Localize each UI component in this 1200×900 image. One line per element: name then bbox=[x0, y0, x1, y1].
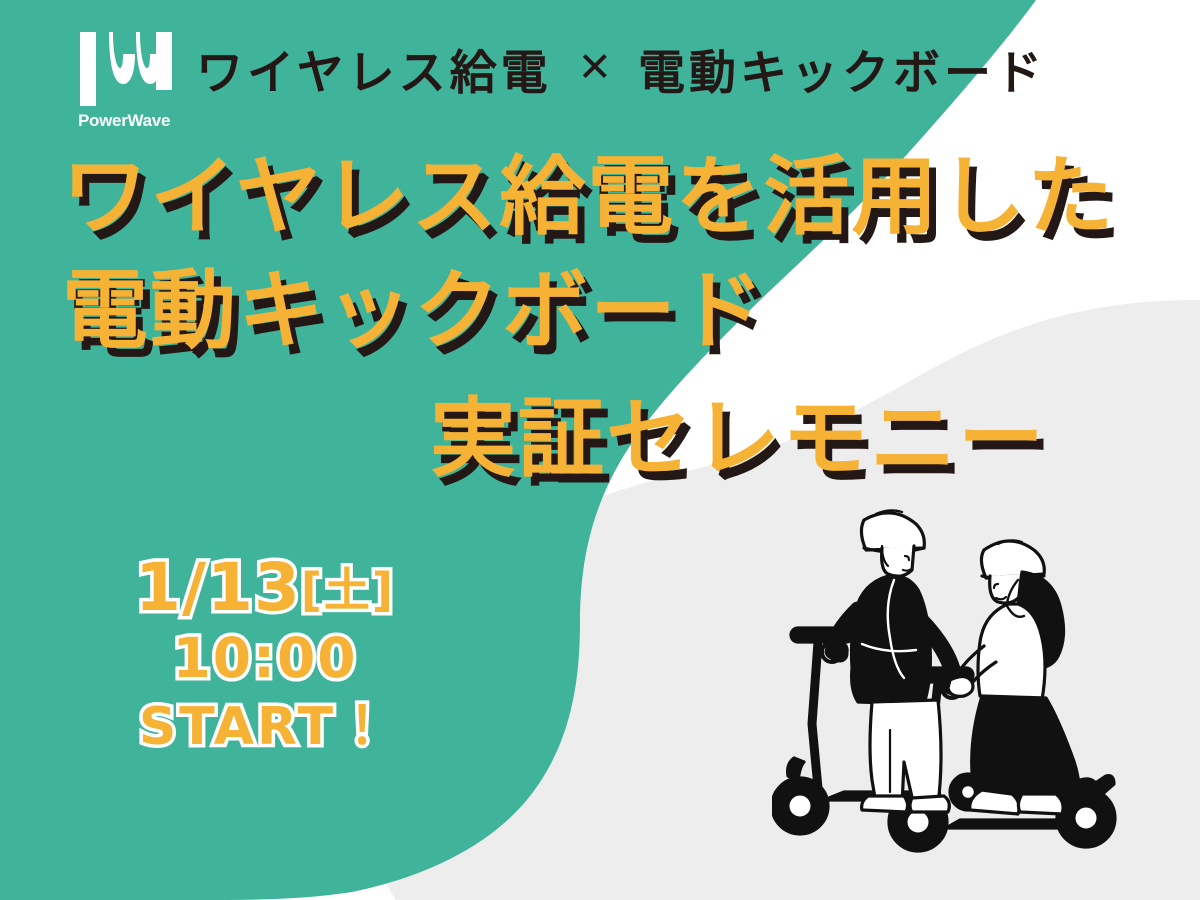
cross-icon: ✕ bbox=[578, 43, 616, 91]
event-date-line: 1/13[土] bbox=[100, 552, 430, 623]
headline-line-3: 実証セレモニー bbox=[0, 392, 1200, 502]
event-date: 1/13 bbox=[135, 549, 301, 626]
headline-line-2: 電動キックボード bbox=[0, 264, 1200, 374]
two-riders-on-electric-kickboards-illustration bbox=[772, 492, 1132, 854]
powerwave-w-mark bbox=[78, 30, 174, 108]
event-time: 10:00 bbox=[100, 629, 430, 688]
header-right-text: 電動キックボード bbox=[638, 34, 1046, 103]
event-datetime: 1/13[土] 10:00 START！ bbox=[100, 552, 430, 755]
event-weekday: [土] bbox=[301, 563, 395, 617]
powerwave-logo: PowerWave bbox=[78, 30, 188, 140]
header-tagline: ワイヤレス給電 ✕ 電動キックボード bbox=[196, 36, 1046, 100]
powerwave-wordmark: PowerWave bbox=[78, 112, 188, 129]
headline-line-1: ワイヤレス給電を活用した bbox=[0, 150, 1200, 260]
event-start-label: START！ bbox=[100, 699, 430, 755]
header-left-text: ワイヤレス給電 bbox=[196, 34, 552, 103]
poster-canvas: PowerWave ワイヤレス給電 ✕ 電動キックボード ワイヤレス給電を活用し… bbox=[0, 0, 1200, 900]
page-title: ワイヤレス給電を活用した 電動キックボード 実証セレモニー bbox=[0, 150, 1200, 502]
